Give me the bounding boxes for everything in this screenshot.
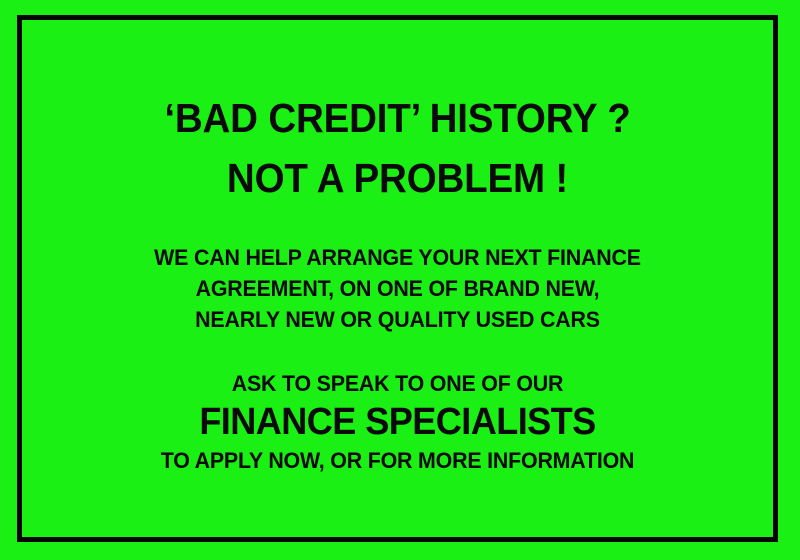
call-to-action-block: ASK TO SPEAK TO ONE OF OUR FINANCE SPECI…: [22, 368, 773, 476]
body-copy-line-3: NEARLY NEW OR QUALITY USED CARS: [41, 304, 754, 335]
headline-block: ‘BAD CREDIT’ HISTORY ? NOT A PROBLEM !: [22, 88, 773, 208]
headline-line-1: ‘BAD CREDIT’ HISTORY ?: [45, 88, 751, 148]
body-copy-line-2: AGREEMENT, ON ONE OF BRAND NEW,: [41, 273, 754, 304]
cta-headline-text: FINANCE SPECIALISTS: [41, 399, 754, 445]
body-copy-block: WE CAN HELP ARRANGE YOUR NEXT FINANCE AG…: [22, 242, 773, 335]
cta-tail-text: TO APPLY NOW, OR FOR MORE INFORMATION: [41, 445, 754, 476]
advertisement-poster: ‘BAD CREDIT’ HISTORY ? NOT A PROBLEM ! W…: [0, 0, 800, 560]
poster-content: ‘BAD CREDIT’ HISTORY ? NOT A PROBLEM ! W…: [22, 20, 773, 537]
body-copy-line-1: WE CAN HELP ARRANGE YOUR NEXT FINANCE: [41, 242, 754, 273]
headline-line-2: NOT A PROBLEM !: [45, 148, 751, 208]
cta-lead-text: ASK TO SPEAK TO ONE OF OUR: [41, 368, 754, 399]
